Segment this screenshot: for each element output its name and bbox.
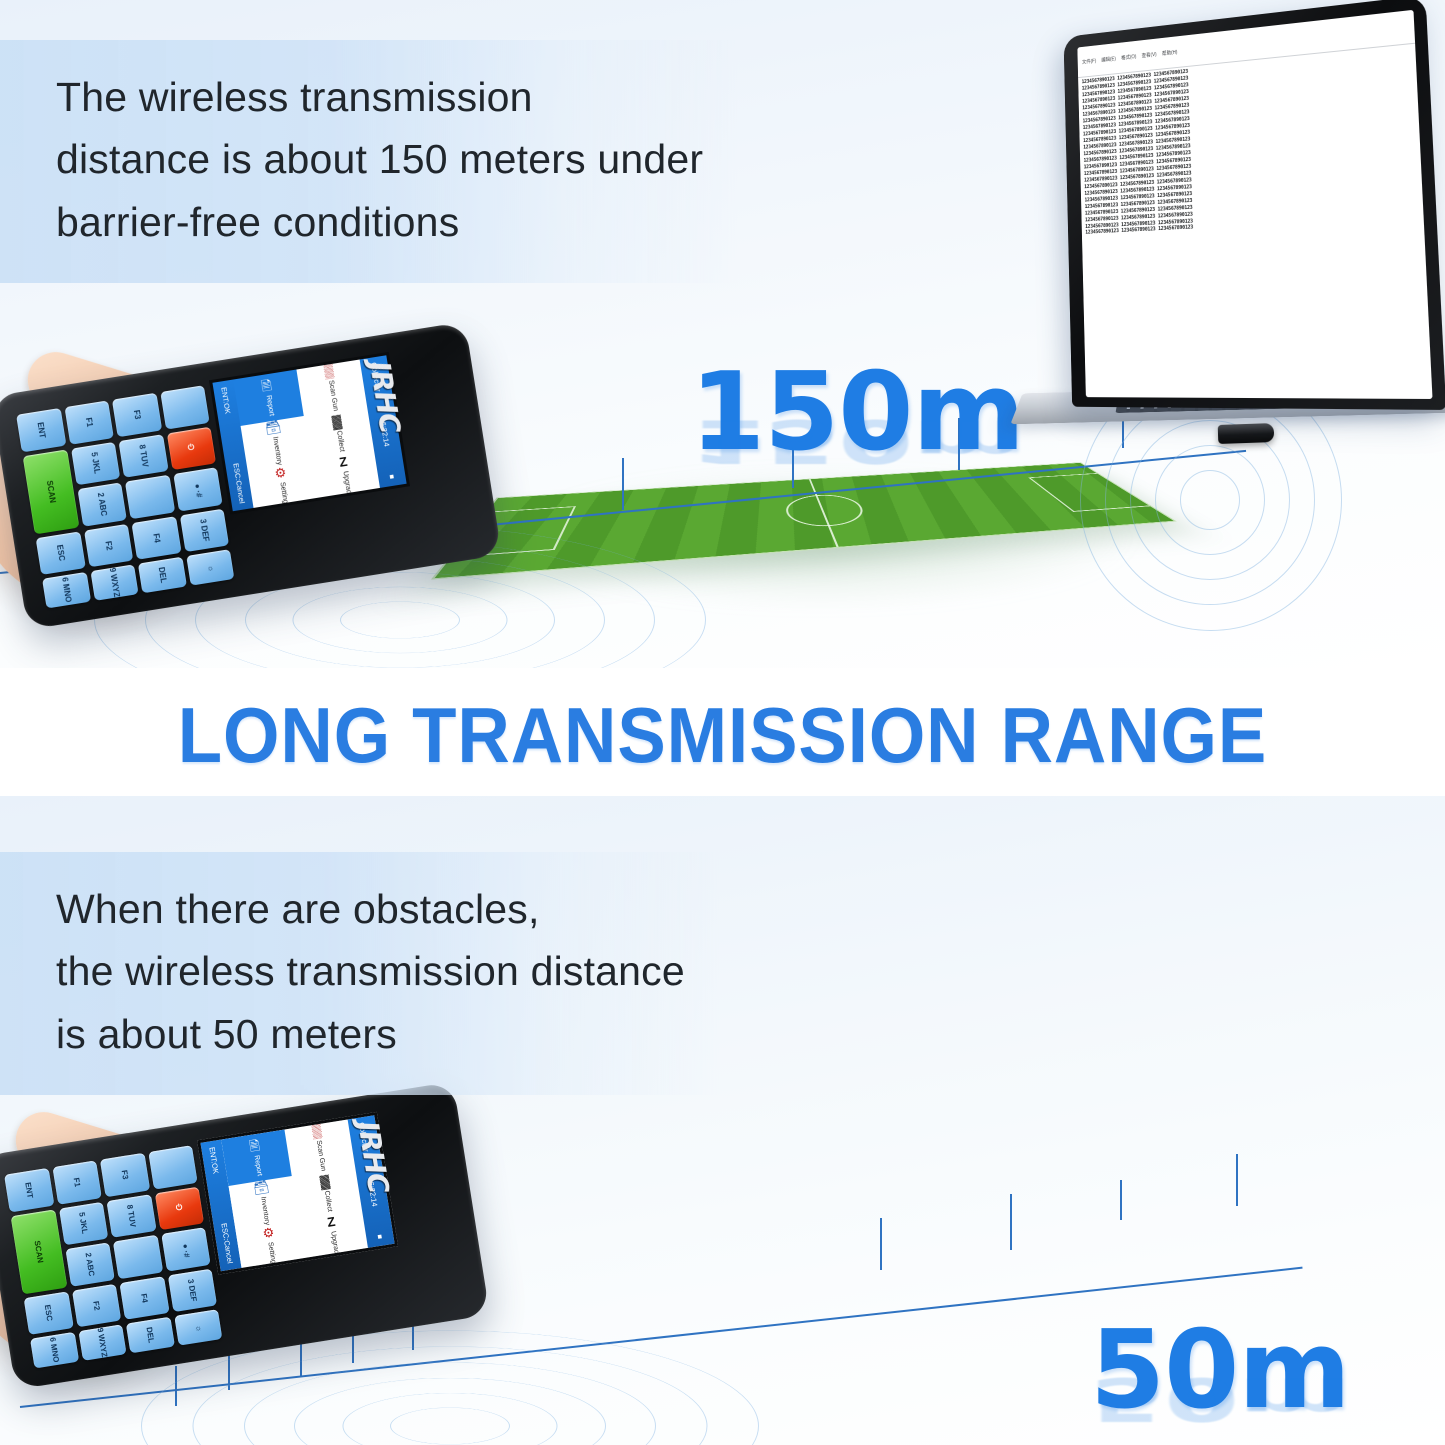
inventory-icon: 🗃	[264, 420, 282, 435]
usb-receiver-dongle	[1218, 423, 1275, 444]
key-power[interactable]: ⏻	[166, 426, 216, 470]
key-ent[interactable]: ENT	[4, 1168, 54, 1212]
upgrade-icon: Z	[326, 1215, 336, 1229]
text-editor-window[interactable]: 文件(F) 编辑(E) 格式(O) 查看(V) 帮助(H) 1234567890…	[1077, 10, 1432, 399]
distance-150m-reflection: 150m	[690, 406, 1024, 475]
distance-label-50m: 50m 50m	[1090, 1308, 1350, 1433]
editor-menu-help[interactable]: 帮助(H)	[1162, 48, 1178, 56]
measure-tick	[1236, 1154, 1238, 1206]
key-2abc[interactable]: 2 ABC	[77, 482, 127, 526]
caption-line-1: The wireless transmission	[56, 66, 703, 128]
marketing-image-stage: ENT:OK ESC:Cancel 🖹 Report ▒ Scan Gun 🗃 …	[0, 0, 1445, 1445]
gear-icon: ⚙	[274, 465, 288, 480]
key-blank-1[interactable]	[148, 1145, 198, 1189]
key-f1[interactable]: F1	[64, 400, 114, 444]
report-icon: 🖹	[260, 379, 272, 393]
measure-tick	[1120, 1180, 1122, 1220]
key-f3[interactable]: F3	[100, 1153, 150, 1197]
hint-ent-ok: ENT:OK	[207, 1146, 220, 1174]
key-5jkl[interactable]: 5 JKL	[58, 1201, 108, 1245]
editor-menu-format[interactable]: 格式(O)	[1121, 53, 1136, 61]
laptop-computer: 文件(F) 编辑(E) 格式(O) 查看(V) 帮助(H) 1234567890…	[1020, 14, 1440, 454]
laptop-lid: 文件(F) 编辑(E) 格式(O) 查看(V) 帮助(H) 1234567890…	[1064, 0, 1445, 410]
key-5jkl[interactable]: 5 JKL	[70, 441, 120, 485]
barcode-icon: ▒	[323, 364, 334, 378]
key-esc[interactable]: ESC	[36, 531, 86, 575]
key-f2[interactable]: F2	[83, 524, 133, 568]
key-ent[interactable]: ENT	[16, 408, 66, 452]
caption-line-3: is about 50 meters	[56, 1003, 685, 1065]
pda-keypad[interactable]: ENT F1 F3 SCAN 5 JKL 8 TUV ⏻ 2 ABC ●·# E…	[16, 385, 234, 608]
caption-through-obstacles: When there are obstacles, the wireless t…	[0, 852, 719, 1095]
pda-keypad[interactable]: ENT F1 F3 SCAN 5 JKL 8 TUV ⏻ 2 ABC ●·# E…	[4, 1145, 222, 1368]
caption-line-of-sight: The wireless transmission distance is ab…	[0, 40, 737, 283]
key-blank-2[interactable]	[125, 475, 175, 519]
caption-line-3: barrier-free conditions	[56, 191, 703, 253]
editor-menu-edit[interactable]: 编辑(E)	[1101, 55, 1116, 63]
key-3def[interactable]: 3 DEF	[167, 1268, 217, 1312]
editor-menu-file[interactable]: 文件(F)	[1082, 57, 1096, 65]
upgrade-icon: Z	[338, 455, 348, 469]
battery-icon: ■	[377, 1232, 383, 1242]
editor-menu-view[interactable]: 查看(V)	[1142, 51, 1157, 59]
pda-menu-grid[interactable]: 🖹 Report ▒ Scan Gun 🗃 Inventory ▓ Collec…	[233, 360, 379, 508]
banner-headline: LONG TRANSMISSION RANGE	[51, 690, 1395, 781]
hint-ent-ok: ENT:OK	[219, 386, 232, 414]
key-f4[interactable]: F4	[119, 1276, 169, 1320]
hint-esc-cancel: ESC:Cancel	[219, 1223, 234, 1265]
measure-tick	[1010, 1194, 1012, 1250]
caption-line-1: When there are obstacles,	[56, 878, 685, 940]
caption-line-2: distance is about 150 meters under	[56, 128, 703, 190]
key-f3[interactable]: F3	[112, 393, 162, 437]
key-f4[interactable]: F4	[131, 516, 181, 560]
barcode-icon: ▒	[311, 1124, 322, 1138]
key-2abc[interactable]: 2 ABC	[65, 1242, 115, 1286]
pda-menu-grid[interactable]: 🖹 Report ▒ Scan Gun 🗃 Inventory ▓ Collec…	[221, 1120, 367, 1268]
key-blank-2[interactable]	[113, 1235, 163, 1279]
hint-esc-cancel: ESC:Cancel	[231, 463, 246, 505]
key-8tuv[interactable]: 8 TUV	[106, 1194, 156, 1238]
key-esc[interactable]: ESC	[24, 1291, 74, 1335]
laptop-screen: 文件(F) 编辑(E) 格式(O) 查看(V) 帮助(H) 1234567890…	[1077, 10, 1432, 399]
key-dot-hash[interactable]: ●·#	[173, 467, 223, 511]
pda-scanner-device[interactable]: ENT:OK ESC:Cancel 🖹 Report ▒ Scan Gun 🗃 …	[0, 1058, 508, 1434]
key-f1[interactable]: F1	[52, 1160, 102, 1204]
distance-50m-reflection: 50m	[1090, 1364, 1350, 1433]
key-blank-1[interactable]	[160, 385, 210, 429]
caption-line-2: the wireless transmission distance	[56, 940, 685, 1002]
gear-icon: ⚙	[262, 1225, 276, 1240]
key-power[interactable]: ⏻	[154, 1186, 204, 1230]
distance-label-150m: 150m 150m	[690, 350, 1024, 475]
report-icon: 🖹	[248, 1139, 260, 1153]
key-3def[interactable]: 3 DEF	[179, 508, 229, 552]
battery-icon: ■	[389, 472, 395, 482]
measure-tick	[880, 1218, 882, 1270]
qrcode-icon: ▓	[319, 1174, 330, 1188]
key-8tuv[interactable]: 8 TUV	[118, 434, 168, 478]
pda-scanner-device[interactable]: ENT:OK ESC:Cancel 🖹 Report ▒ Scan Gun 🗃 …	[0, 298, 520, 668]
qrcode-icon: ▓	[331, 414, 342, 428]
key-dot-hash[interactable]: ●·#	[161, 1227, 211, 1271]
scanned-barcode-list: 1234567890123 1234567890123 123456789012…	[1078, 44, 1424, 239]
inventory-icon: 🗃	[252, 1180, 270, 1195]
key-f2[interactable]: F2	[71, 1284, 121, 1328]
